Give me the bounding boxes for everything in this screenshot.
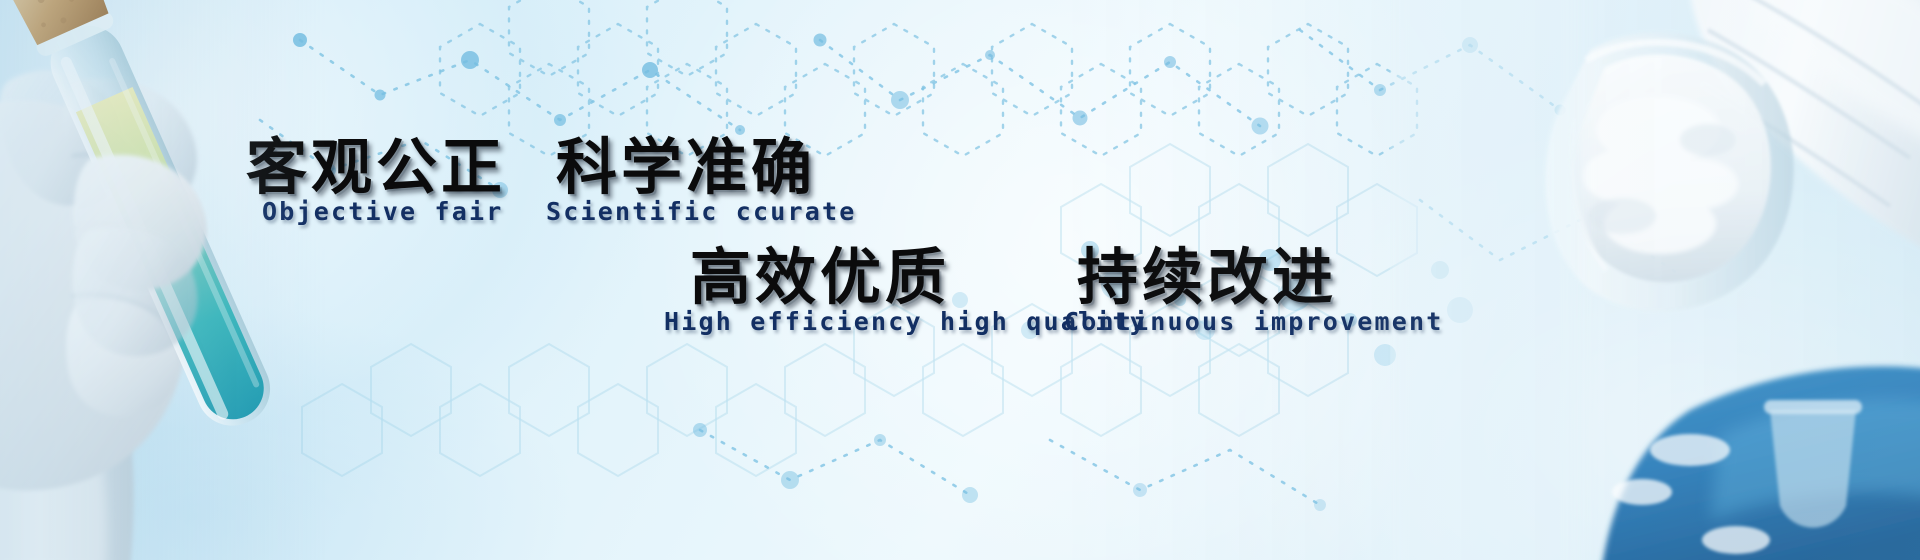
slogan-chinese-continuous-improvement: 持续改进 xyxy=(1077,247,1337,308)
slogan-chinese-high-efficiency: 高效优质 xyxy=(690,247,950,308)
slogan-english-continuous-improvement: Continuous improvement xyxy=(1064,309,1444,334)
slogan-chinese-objective-fair: 客观公正 xyxy=(246,137,506,198)
slogan-group: 客观公正 Objective fair 科学准确 Scientific ccur… xyxy=(0,0,1920,560)
slogan-chinese-scientific-accurate: 科学准确 xyxy=(556,137,816,198)
slogan-english-scientific-accurate: Scientific ccurate xyxy=(546,199,857,224)
slogan-english-objective-fair: Objective fair xyxy=(262,199,504,224)
banner-hero: 客观公正 Objective fair 科学准确 Scientific ccur… xyxy=(0,0,1920,560)
